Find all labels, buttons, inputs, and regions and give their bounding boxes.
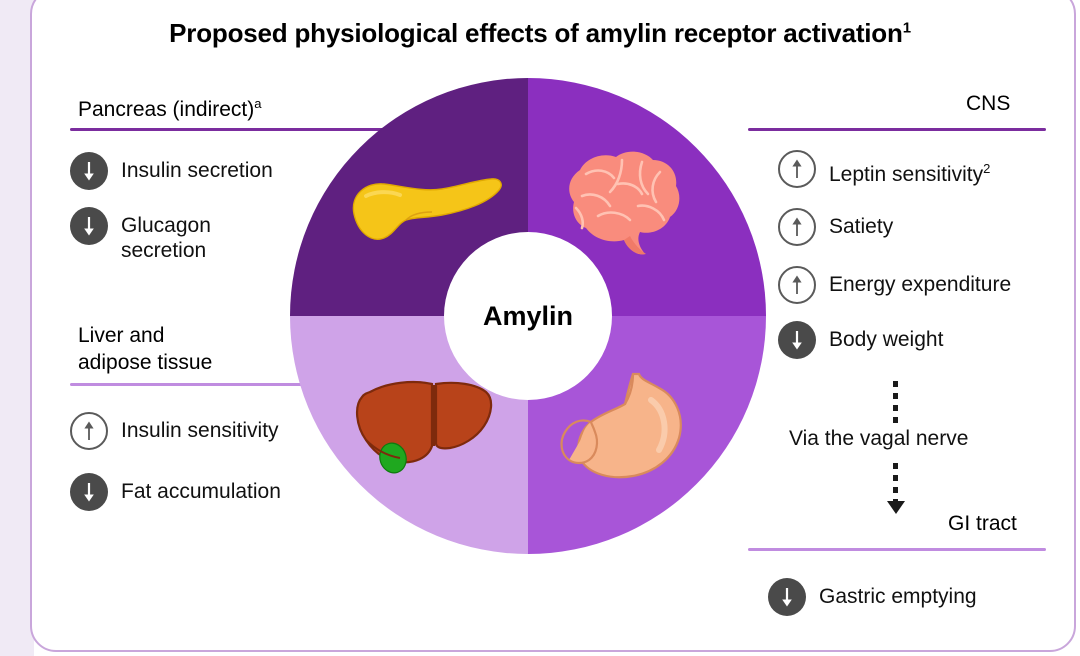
- arrow-up-icon: [778, 266, 816, 304]
- vagal-arrowhead-icon: [887, 501, 905, 514]
- vagal-dotted-line-lower: [893, 463, 898, 505]
- arrow-up-icon: [778, 208, 816, 246]
- slide-root: Proposed physiological effects of amylin…: [0, 0, 1080, 656]
- arrow-up-icon: [778, 150, 816, 188]
- arrow-down-icon: [768, 578, 806, 616]
- page-title-superscript: 1: [903, 19, 911, 36]
- center-label: Amylin: [483, 301, 573, 332]
- arrow-up-icon: [70, 412, 108, 450]
- effect-label: Gastric emptying: [819, 578, 977, 609]
- effect-row-energy-expenditure: Energy expenditure: [778, 266, 1011, 304]
- page-title-text: Proposed physiological effects of amylin…: [169, 18, 903, 48]
- effect-row-body-weight: Body weight: [778, 321, 943, 359]
- effect-label: Insulin secretion: [121, 152, 273, 183]
- effect-label: Glucagon secretion: [121, 207, 211, 263]
- section-heading-liver: Liver and adipose tissue: [78, 322, 212, 376]
- arrow-down-icon: [778, 321, 816, 359]
- effect-label: Leptin sensitivity2: [829, 150, 990, 187]
- section-heading-cns: CNS: [966, 90, 1010, 117]
- left-edge-strip: [0, 0, 34, 656]
- pancreas-illustration: [336, 162, 506, 257]
- arrow-down-icon: [70, 207, 108, 245]
- effect-row-gastric-emptying: Gastric emptying: [768, 578, 977, 616]
- effect-row-leptin-sensitivity: Leptin sensitivity2: [778, 150, 990, 188]
- effect-label: Fat accumulation: [121, 473, 281, 504]
- effect-label: Satiety: [829, 208, 893, 239]
- stomach-illustration: [555, 370, 710, 490]
- effect-label: Body weight: [829, 321, 943, 352]
- effect-row-insulin-sensitivity: Insulin sensitivity: [70, 412, 279, 450]
- section-heading-gi-tract: GI tract: [948, 510, 1017, 537]
- section-heading-pancreas-text: Pancreas (indirect): [78, 98, 254, 121]
- divider-gi-tract: [748, 548, 1046, 551]
- effect-label: Energy expenditure: [829, 266, 1011, 297]
- arrow-down-icon: [70, 152, 108, 190]
- amylin-donut-diagram: Amylin: [290, 78, 766, 554]
- effect-label: Insulin sensitivity: [121, 412, 279, 443]
- effect-label-text: Leptin sensitivity: [829, 163, 983, 186]
- vagal-nerve-label: Via the vagal nerve: [789, 427, 968, 451]
- effect-row-satiety: Satiety: [778, 208, 893, 246]
- divider-cns: [748, 128, 1046, 131]
- effect-label-superscript: 2: [983, 161, 990, 176]
- section-heading-pancreas: Pancreas (indirect)a: [78, 90, 261, 123]
- vagal-dotted-line-upper: [893, 381, 898, 429]
- liver-illustration: [340, 370, 505, 490]
- arrow-down-icon: [70, 473, 108, 511]
- effect-row-fat-accumulation: Fat accumulation: [70, 473, 281, 511]
- effect-row-glucagon-secretion: Glucagon secretion: [70, 207, 211, 263]
- center-hub: Amylin: [444, 232, 612, 400]
- page-title: Proposed physiological effects of amylin…: [0, 18, 1080, 49]
- divider-liver: [70, 383, 305, 386]
- section-heading-pancreas-superscript: a: [254, 96, 261, 111]
- effect-row-insulin-secretion: Insulin secretion: [70, 152, 273, 190]
